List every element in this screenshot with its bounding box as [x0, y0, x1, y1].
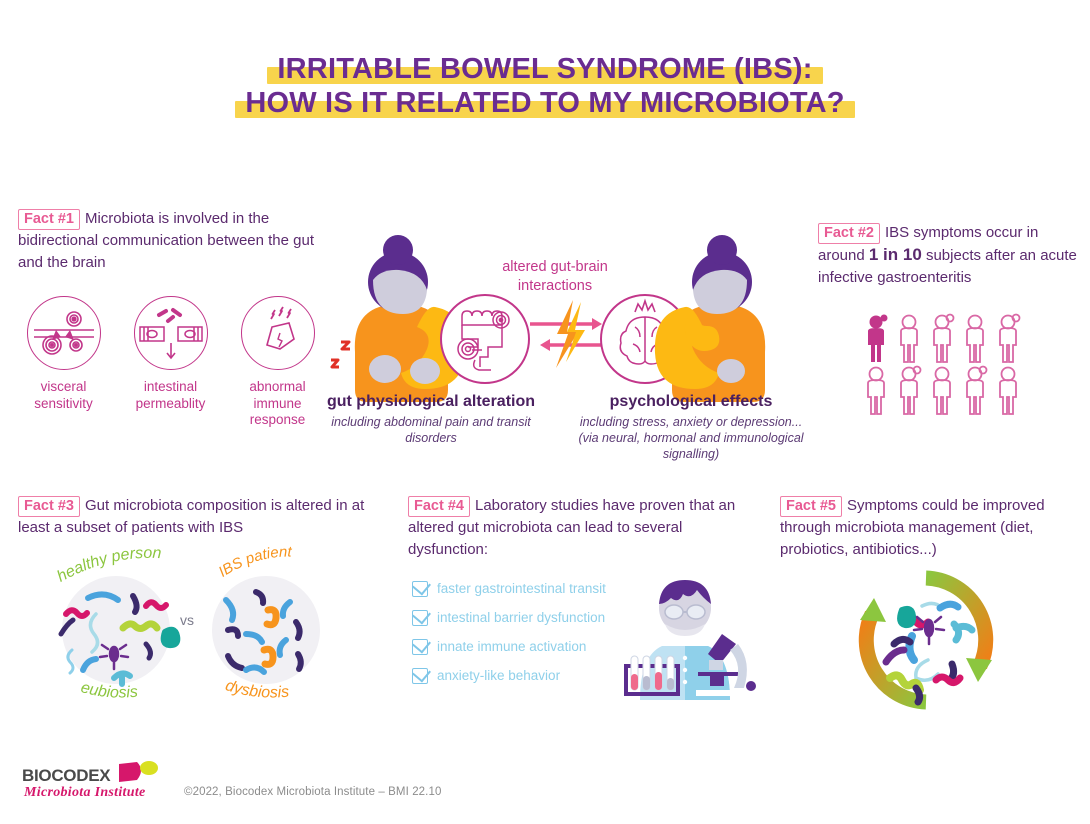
fact-5-badge: Fact #5: [780, 496, 842, 517]
icon-label-permeability: intestinal permeablity: [123, 379, 218, 412]
fact-2-badge: Fact #2: [818, 223, 880, 244]
gut-caption-title: gut physiological alteration: [326, 392, 536, 412]
gut-caption-sub: including abdominal pain and transit dis…: [326, 414, 536, 446]
gut-icon: [441, 295, 529, 383]
psych-caption: psychological effects including stress, …: [575, 392, 807, 462]
psych-caption-sub: including stress, anxiety or depression.…: [575, 414, 807, 462]
footer: BIOCODEX Microbiota Institute ©2022, Bio…: [22, 760, 1072, 810]
fact-4-badge: Fact #4: [408, 496, 470, 517]
microbiota-cycle-illustration: [852, 566, 1000, 714]
person-icon-outline: [901, 316, 917, 363]
visceral-sensitivity-icon: [27, 296, 101, 370]
fact-2-block: Fact #2IBS symptoms occur in around 1 in…: [818, 222, 1080, 289]
person-icon-outline: [1000, 315, 1020, 363]
person-icon-outline: [1000, 368, 1016, 415]
svg-text:eubiosis: eubiosis: [79, 679, 139, 701]
fact-1-badge: Fact #1: [18, 209, 80, 230]
title-text-1: IRRITABLE BOWEL SYNDROME (IBS):: [277, 52, 812, 86]
person-icon-filled: [868, 315, 888, 363]
logo-wordmark: BIOCODEX: [22, 766, 110, 786]
gut-caption: gut physiological alteration including a…: [326, 392, 536, 446]
vs-label: vs: [180, 612, 194, 628]
psych-caption-title: psychological effects: [575, 392, 807, 412]
abnormal-immune-response-icon: [241, 296, 315, 370]
check-item: faster gastrointestinal transit: [412, 580, 642, 597]
icon-label-visceral: visceral sensitivity: [16, 379, 111, 412]
intestinal-permeability-icon: [134, 296, 208, 370]
check-label: innate immune activation: [437, 638, 586, 655]
person-icon-outline: [901, 367, 921, 415]
checkbox-checked-icon: [412, 639, 428, 655]
infographic-canvas: IRRITABLE BOWEL SYNDROME (IBS): HOW IS I…: [0, 0, 1090, 824]
check-item: intestinal barrier dysfunction: [412, 609, 642, 626]
title-line-2: HOW IS IT RELATED TO MY MICROBIOTA?: [235, 86, 854, 120]
healthy-dish: [62, 576, 170, 684]
icon-col-immune: abnormal immune response: [230, 296, 325, 429]
scientist-illustration: [610, 572, 760, 700]
person-right-illustration: [655, 235, 765, 402]
person-icon-outline: [934, 368, 950, 415]
icon-col-permeability: intestinal permeablity: [123, 296, 218, 429]
person-icon-outline: [934, 315, 954, 363]
title-line-1: IRRITABLE BOWEL SYNDROME (IBS):: [267, 52, 822, 86]
svg-text:IBS patient: IBS patient: [216, 544, 293, 581]
fact-3-badge: Fact #3: [18, 496, 80, 517]
check-label: anxiety-like behavior: [437, 667, 560, 684]
fact-3-block: Fact #3Gut microbiota composition is alt…: [18, 495, 378, 539]
fact-4-block: Fact #4Laboratory studies have proven th…: [408, 495, 748, 561]
people-ratio-graphic: [862, 312, 1027, 416]
ibs-patient-label: IBS patient: [205, 542, 355, 588]
checkbox-checked-icon: [412, 581, 428, 597]
copyright-text: ©2022, Biocodex Microbiota Institute – B…: [184, 786, 441, 798]
svg-text:healthy person: healthy person: [54, 545, 161, 586]
fact-5-block: Fact #5Symptoms could be improved throug…: [780, 495, 1080, 561]
fact-1-block: Fact #1Microbiota is involved in the bid…: [18, 208, 318, 274]
person-icon-outline: [868, 368, 884, 415]
icon-label-immune: abnormal immune response: [230, 379, 325, 429]
person-icon-outline: [967, 316, 983, 363]
person-icon-outline: [967, 367, 987, 415]
fact-1-icon-row: visceral sensitivity: [16, 296, 326, 429]
checkbox-checked-icon: [412, 610, 428, 626]
icon-col-visceral: visceral sensitivity: [16, 296, 111, 429]
dysbiosis-label: dysbiosis: [205, 676, 335, 712]
check-item: anxiety-like behavior: [412, 667, 642, 684]
check-item: innate immune activation: [412, 638, 642, 655]
logo-mark-icon: [117, 760, 159, 786]
logo-tagline: Microbiota Institute: [24, 785, 146, 801]
lightning-bolt-icon: [556, 300, 585, 368]
check-label: intestinal barrier dysfunction: [437, 609, 605, 626]
title-text-2: HOW IS IT RELATED TO MY MICROBIOTA?: [245, 86, 844, 120]
eubiosis-label: eubiosis: [58, 676, 188, 712]
checkbox-checked-icon: [412, 668, 428, 684]
check-label: faster gastrointestinal transit: [437, 580, 606, 597]
biocodex-logo: BIOCODEX Microbiota Institute: [22, 760, 157, 804]
svg-text:dysbiosis: dysbiosis: [223, 677, 289, 702]
page-title: IRRITABLE BOWEL SYNDROME (IBS): HOW IS I…: [0, 52, 1090, 120]
fact-2-emphasis: 1 in 10: [869, 245, 922, 264]
dysfunction-checklist: faster gastrointestinal transit intestin…: [412, 580, 642, 696]
